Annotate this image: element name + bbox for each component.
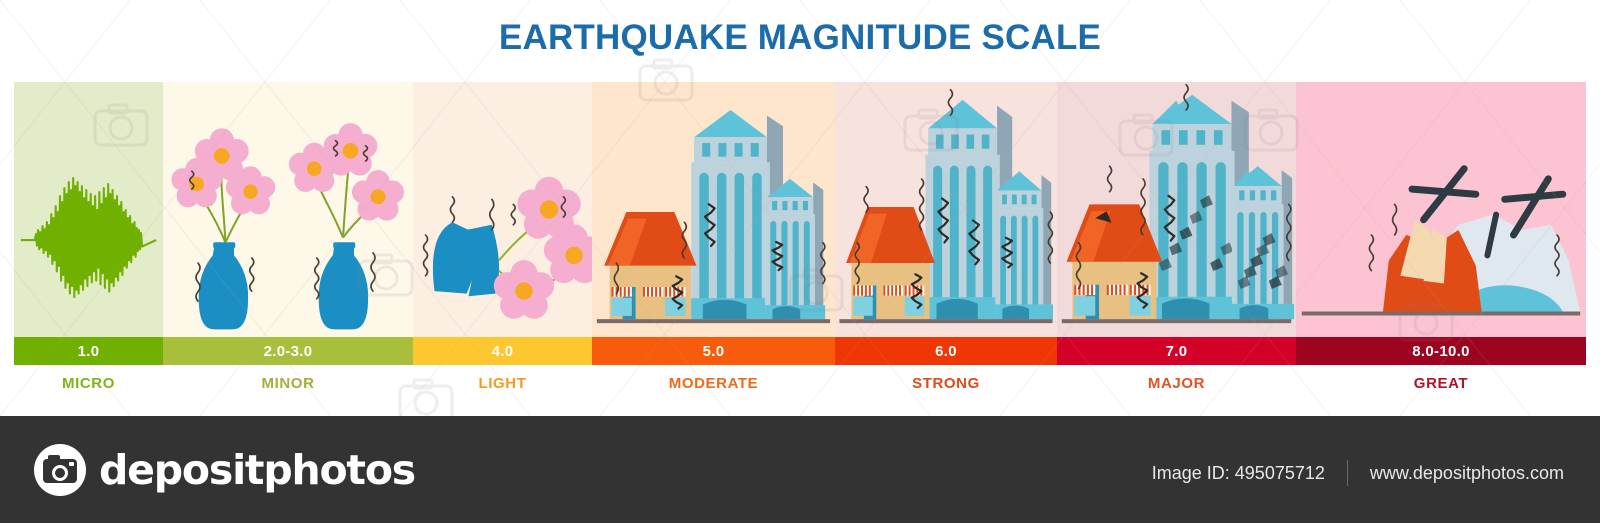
- scale-value: 5.0: [703, 343, 725, 360]
- footer-divider: [1347, 460, 1348, 486]
- depositphotos-logo: depositphotos: [34, 444, 415, 496]
- scale-label-micro: MICRO: [14, 370, 163, 396]
- buildings-cracks-shake-icon: [835, 82, 1057, 337]
- scale-value: 6.0: [935, 343, 957, 360]
- panel-major: [1057, 82, 1296, 337]
- brand-name: depositphotos: [99, 446, 415, 494]
- magnitude-scale-bar: 1.02.0-3.04.05.06.07.08.0-10.0: [14, 337, 1586, 365]
- scale-value: 4.0: [492, 343, 514, 360]
- panel-strong: [835, 82, 1057, 337]
- page-title: EARTHQUAKE MAGNITUDE SCALE: [0, 18, 1600, 58]
- scale-segment-major[interactable]: 7.0: [1057, 337, 1296, 365]
- image-id: Image ID: 495075712: [1152, 463, 1325, 484]
- magnitude-labels-row: MICROMINORLIGHTMODERATESTRONGMAJORGREAT: [14, 370, 1586, 396]
- scale-value: 7.0: [1166, 343, 1188, 360]
- camera-logo-icon: [34, 444, 86, 496]
- scale-segment-minor[interactable]: 2.0-3.0: [163, 337, 413, 365]
- buildings-small-cracks-icon: [592, 82, 835, 337]
- scale-value: 8.0-10.0: [1412, 343, 1469, 360]
- scale-segment-strong[interactable]: 6.0: [835, 337, 1057, 365]
- scale-value: 1.0: [78, 343, 100, 360]
- scale-segment-great[interactable]: 8.0-10.0: [1296, 337, 1586, 365]
- panel-minor: [163, 82, 413, 337]
- scale-label-light: LIGHT: [413, 370, 592, 396]
- scale-label-minor: MINOR: [163, 370, 413, 396]
- collapsed-rubble-icon: [1296, 82, 1586, 337]
- scale-label-major: MAJOR: [1057, 370, 1296, 396]
- broken-vase-flowers-icon: [413, 82, 592, 337]
- seismograph-wave-icon: [14, 82, 163, 337]
- buildings-heavy-damage-icon: [1057, 82, 1296, 337]
- infographic-root: EARTHQUAKE MAGNITUDE SCALE 1.02.0-3.04.0…: [0, 0, 1600, 523]
- footer-meta: Image ID: 495075712 www.depositphotos.co…: [1152, 460, 1564, 486]
- website-url: www.depositphotos.com: [1370, 463, 1564, 484]
- scale-label-moderate: MODERATE: [592, 370, 835, 396]
- illustration-panels: [14, 82, 1586, 337]
- scale-segment-micro[interactable]: 1.0: [14, 337, 163, 365]
- scale-value: 2.0-3.0: [264, 343, 313, 360]
- scale-segment-moderate[interactable]: 5.0: [592, 337, 835, 365]
- scale-segment-light[interactable]: 4.0: [413, 337, 592, 365]
- scale-label-strong: STRONG: [835, 370, 1057, 396]
- footer-bar: depositphotos Image ID: 495075712 www.de…: [0, 416, 1600, 523]
- scale-label-great: GREAT: [1296, 370, 1586, 396]
- panel-light: [413, 82, 592, 337]
- two-vases-flowers-icon: [163, 82, 413, 337]
- panel-great: [1296, 82, 1586, 337]
- panel-micro: [14, 82, 163, 337]
- panel-moderate: [592, 82, 835, 337]
